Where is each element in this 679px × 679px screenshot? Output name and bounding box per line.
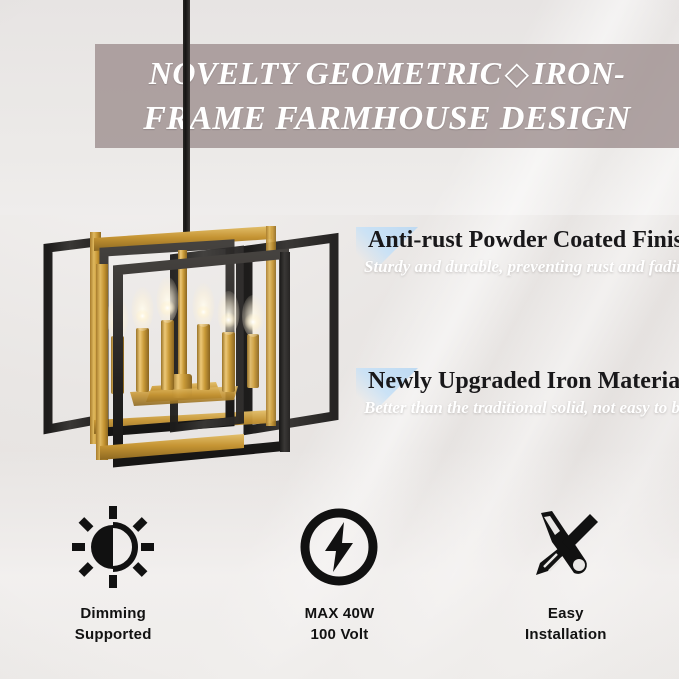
benefit-dimming: Dimming Supported [0, 505, 226, 665]
benefit-label-line-2: Supported [75, 624, 152, 645]
benefit-label: Dimming Supported [75, 603, 152, 645]
feature-block-anti-rust: Anti-rust Powder Coated Finish Sturdy an… [356, 225, 679, 278]
headline-part-2: IRON- [532, 55, 625, 91]
benefit-label-line-1: MAX 40W [305, 603, 375, 624]
suspension-rod [183, 0, 190, 250]
headline-part-1: NOVELTY GEOMETRIC [149, 55, 502, 91]
benefit-label-line-2: Installation [525, 624, 607, 645]
lightning-bolt-circle-icon [298, 505, 380, 589]
diamond-icon: ◇ [501, 55, 532, 91]
frame-black-rear-right [248, 238, 334, 430]
benefit-label-line-2: 100 Volt [305, 624, 375, 645]
frame-black-rear [48, 242, 96, 429]
feature-subtitle: Better than the traditional solid, not e… [356, 396, 679, 419]
benefit-installation: Easy Installation [453, 505, 679, 665]
feature-title: Anti-rust Powder Coated Finish [356, 225, 679, 255]
feature-block-iron-material: Newly Upgraded Iron Material Better than… [356, 366, 679, 419]
benefit-wattage: MAX 40W 100 Volt [226, 505, 452, 665]
center-stem [178, 250, 187, 390]
benefit-label-line-1: Easy [525, 603, 607, 624]
headline-line-2: FRAME FARMHOUSE DESIGN [143, 96, 631, 141]
frame-black-right-post [280, 252, 290, 452]
dimmer-sun-icon [71, 505, 155, 589]
benefit-label: MAX 40W 100 Volt [305, 603, 375, 645]
chandelier-product-photo [34, 224, 354, 476]
product-feature-image: Anti-rust Powder Coated Finish Sturdy an… [0, 0, 679, 679]
screwdriver-pliers-icon [524, 505, 608, 589]
feature-title: Newly Upgraded Iron Material [356, 366, 679, 396]
benefit-label: Easy Installation [525, 603, 607, 645]
benefit-label-line-1: Dimming [75, 603, 152, 624]
feature-subtitle: Sturdy and durable, preventing rust and … [356, 255, 679, 278]
benefits-row: Dimming Supported MAX 40W 100 Volt [0, 505, 679, 665]
headline-line-1: NOVELTY GEOMETRIC◇IRON- [149, 51, 625, 96]
